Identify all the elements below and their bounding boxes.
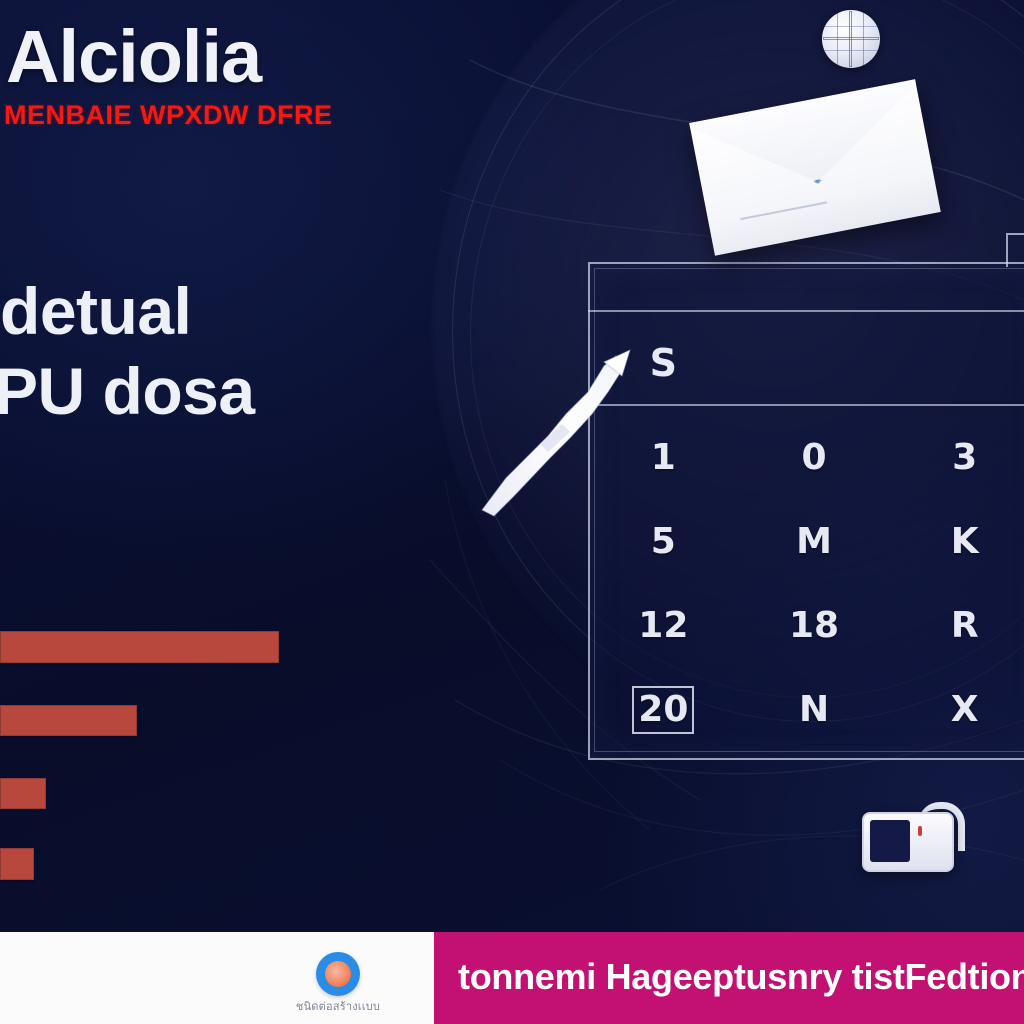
calendar-panel-divider-top bbox=[588, 310, 1024, 312]
page-title: Alciolia bbox=[6, 14, 261, 100]
calendar-cell[interactable]: M bbox=[739, 520, 890, 564]
calendar-cell[interactable]: 0 bbox=[739, 436, 890, 480]
chart-bar bbox=[0, 705, 137, 736]
calendar-cell[interactable]: K bbox=[889, 520, 1024, 564]
app-badge-icon[interactable] bbox=[316, 952, 360, 996]
padlock-body bbox=[862, 812, 954, 872]
chart-bar bbox=[0, 848, 34, 880]
calendar-cell-selected-label: 20 bbox=[632, 686, 694, 734]
globe-icon bbox=[822, 10, 880, 68]
app-badge-caption: ชนิดต่อสร้างเเบบ bbox=[250, 1000, 426, 1014]
padlock-indicator bbox=[918, 826, 922, 836]
calendar-cell[interactable]: 12 bbox=[588, 604, 739, 648]
headline-line-2: PU dosa bbox=[0, 342, 255, 440]
footer-banner-text: tonnemi Hageeptusnry tistFedtion bbox=[458, 954, 1024, 1000]
calendar-cell[interactable]: N bbox=[739, 688, 890, 732]
calendar-cell-selected[interactable]: 20 bbox=[588, 686, 739, 734]
calendar-cell[interactable]: R bbox=[889, 604, 1024, 648]
weekday-header-cell bbox=[739, 340, 890, 386]
footer-banner: tonnemi Hageeptusnry tistFedtion bbox=[434, 932, 1024, 1024]
calendar-cell[interactable]: 3 bbox=[889, 436, 1024, 480]
chart-bar bbox=[0, 631, 279, 663]
calendar-row: 12 18 R bbox=[588, 584, 1024, 668]
cursor-arrow-icon bbox=[470, 340, 660, 520]
padlock-icon bbox=[862, 800, 966, 872]
calendar-cell[interactable]: 5 bbox=[588, 520, 739, 564]
page-subtitle: MENBAIE WPXDW DFRE bbox=[4, 98, 333, 132]
chart-bar bbox=[0, 778, 46, 809]
calendar-row: 20 N X bbox=[588, 668, 1024, 752]
weekday-header-cell bbox=[889, 340, 1024, 386]
screenshot-root: Alciolia MENBAIE WPXDW DFRE detual PU do… bbox=[0, 0, 1024, 1024]
calendar-cell[interactable]: 18 bbox=[739, 604, 890, 648]
calendar-panel-notch bbox=[1006, 233, 1024, 267]
calendar-cell[interactable]: X bbox=[889, 688, 1024, 732]
